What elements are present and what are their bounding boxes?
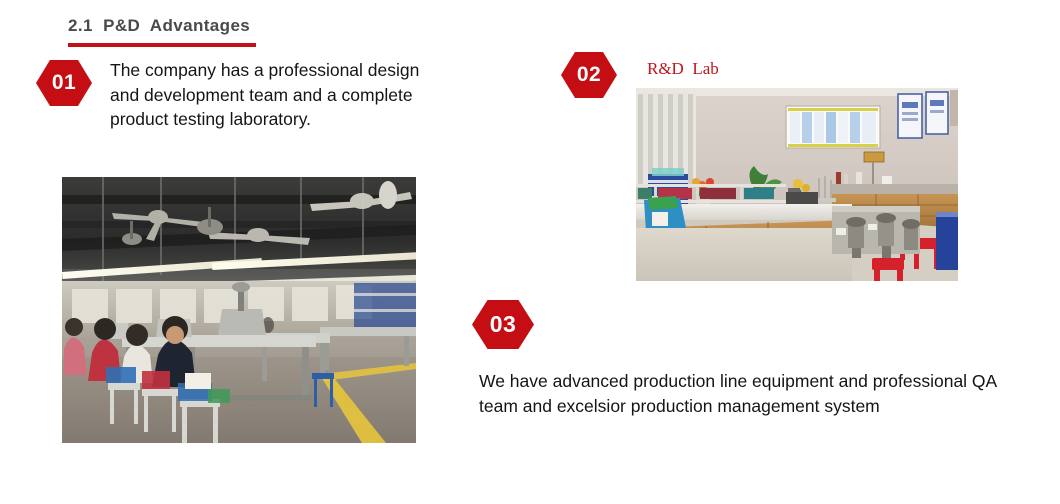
rd-lab-photo — [636, 88, 958, 281]
badge-01: 01 — [36, 60, 92, 106]
factory-production-floor-photo — [62, 177, 416, 443]
factory-photo-artwork — [62, 177, 416, 443]
badge-02: 02 — [561, 52, 617, 98]
rd-lab-label: R&D Lab — [647, 59, 719, 79]
lab-photo-artwork — [636, 88, 958, 281]
title-underline-rule — [68, 43, 256, 47]
page-title: 2.1 P&D Advantages — [68, 16, 250, 36]
point-03-text: We have advanced production line equipme… — [479, 369, 1024, 418]
point-01-text: The company has a professional design an… — [110, 58, 430, 132]
badge-03: 03 — [472, 300, 534, 349]
